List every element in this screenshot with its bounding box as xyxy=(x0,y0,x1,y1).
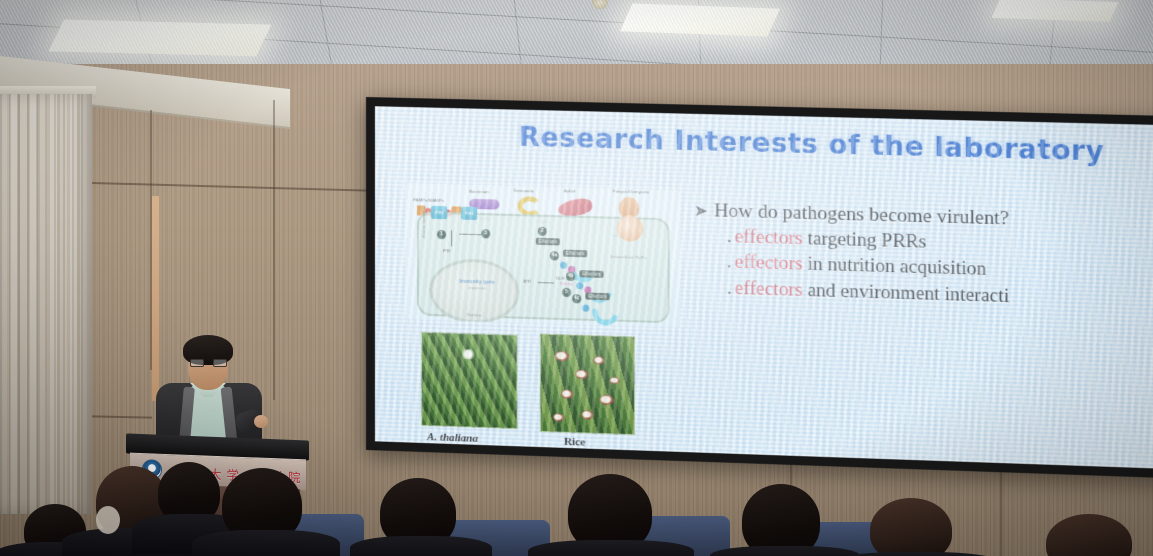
diagram-step: 3 xyxy=(481,229,490,238)
lesion-spot xyxy=(593,356,604,364)
slide-title: Research Interests of the laboratory xyxy=(483,121,1141,169)
photo-arabidopsis xyxy=(421,332,518,429)
lecture-hall-scene: Research Interests of the laboratory Bac… xyxy=(0,0,1153,556)
audience-shoulders xyxy=(528,540,694,556)
hair-clip-icon xyxy=(96,506,120,534)
lesion-spot xyxy=(561,389,573,398)
diagram-step: 1 xyxy=(437,230,446,239)
window-curtain[interactable] xyxy=(0,94,92,514)
lesion-spot xyxy=(553,413,564,421)
audience-head xyxy=(870,498,952,556)
chevron-right-icon: ➤ xyxy=(694,203,708,221)
nucleus-shape: Immunity gene expression Nucleus xyxy=(429,258,520,325)
effector-pill: Effectors xyxy=(536,238,560,246)
prr-receptor-icon: PRR xyxy=(431,206,447,219)
bullet-dot-icon: . xyxy=(727,252,732,273)
diagram-arrow xyxy=(451,230,452,246)
diagram-step: 4c xyxy=(572,294,581,303)
audience-shoulders xyxy=(192,530,340,556)
photo-rice-leaves xyxy=(540,333,635,435)
plant-cell-outline: Plasma membrane Immunity gene expression… xyxy=(417,211,670,323)
diagram-arrow xyxy=(459,234,481,236)
audience-head xyxy=(1046,514,1132,556)
ceiling-light-panel xyxy=(620,3,780,36)
diagram-arrow xyxy=(538,282,554,283)
wall-seam xyxy=(273,100,275,400)
lesion-spot xyxy=(600,395,614,406)
audience-shoulders xyxy=(350,536,492,556)
ceiling-grid-line xyxy=(0,0,1153,56)
ceiling-light-panel xyxy=(991,0,1118,22)
photo-caption-arabidopsis: A. thaliana xyxy=(427,431,478,445)
projection-screen-frame: Research Interests of the laboratory Bac… xyxy=(366,97,1153,478)
bullet-dot-icon: . xyxy=(727,277,732,298)
slide-bullet-list: ➤How do pathogens become virulent? .effe… xyxy=(694,199,1153,315)
diagram-step: 4a xyxy=(550,251,559,260)
ceiling-light-panel xyxy=(48,19,271,56)
lesion-spot xyxy=(555,351,569,362)
bullet-dot-icon: . xyxy=(727,226,732,247)
audience xyxy=(0,462,1153,556)
lesion-spot xyxy=(575,370,588,379)
glasses-icon xyxy=(190,359,227,367)
immunity-gene-label: Immunity gene expression xyxy=(440,279,514,291)
bullet-sub-text: targeting PRRs xyxy=(803,228,927,253)
photo-caption-rice: Rice xyxy=(564,436,585,449)
nlr-domain-icon xyxy=(560,262,567,269)
presenter-hand xyxy=(254,415,268,428)
bullet-sub-text: in nutrition acquisition xyxy=(803,254,987,281)
projection-screen: Research Interests of the laboratory Bac… xyxy=(375,106,1153,469)
immunity-pathway-diagram: Bacterium Nematode Aphid Fungus/Oomycete… xyxy=(405,183,680,328)
bullet-highlight: effectors xyxy=(735,277,803,300)
bullet-highlight: effectors xyxy=(735,227,803,250)
audience-shoulders xyxy=(710,546,860,556)
bullet-sub-text: and environment interacti xyxy=(803,279,1010,306)
diagram-step: 5 xyxy=(562,288,571,297)
prr-receptor-icon: PRR xyxy=(461,207,477,220)
bullet-highlight: effectors xyxy=(735,252,803,275)
diagram-step: 2 xyxy=(538,227,547,236)
lesion-spot xyxy=(581,410,593,419)
nlr-domain-icon xyxy=(582,305,589,312)
nlr-domain-icon xyxy=(576,282,583,289)
diagram-step: 4b xyxy=(566,272,575,281)
haustorium-icon xyxy=(617,215,643,242)
lesion-spot xyxy=(610,377,620,384)
smoke-detector xyxy=(592,0,608,9)
